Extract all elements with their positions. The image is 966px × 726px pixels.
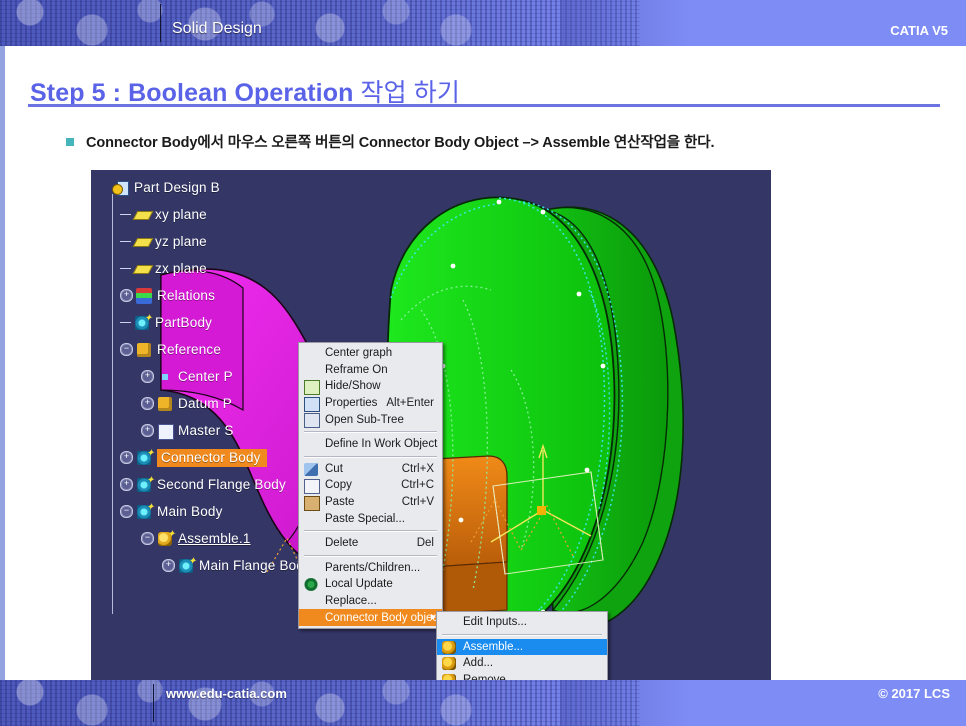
tree-item-zx-plane[interactable]: zx plane bbox=[99, 255, 359, 282]
copy-icon bbox=[304, 479, 320, 494]
collapse-icon[interactable]: − bbox=[141, 532, 154, 545]
menu-item-edit-inputs[interactable]: Edit Inputs... bbox=[437, 614, 607, 631]
menu-separator bbox=[304, 456, 437, 458]
reference-icon bbox=[136, 342, 153, 358]
tree-item-label: Center P bbox=[178, 369, 233, 384]
tree-item-relations[interactable]: +Relations bbox=[99, 282, 359, 309]
tree-item-label: Main Body bbox=[157, 504, 223, 519]
footer-copyright: © 2017 LCS bbox=[878, 686, 950, 701]
left-rail bbox=[0, 46, 5, 680]
menu-item-cut[interactable]: CutCtrl+X bbox=[299, 461, 442, 478]
menu-item-local-update[interactable]: Local Update bbox=[299, 576, 442, 593]
menu-item-label: Replace... bbox=[325, 595, 377, 607]
submenu-items: Edit Inputs...Assemble...Add...Remove...… bbox=[437, 614, 607, 680]
part-icon bbox=[113, 180, 130, 196]
tree-item-label: zx plane bbox=[155, 261, 207, 276]
menu-item-parents-children[interactable]: Parents/Children... bbox=[299, 560, 442, 577]
assemble-icon: ✦ bbox=[157, 531, 174, 547]
menu-item-shortcut: Del bbox=[417, 537, 434, 549]
body-icon: ✦ bbox=[134, 315, 151, 331]
body-icon: ✦ bbox=[178, 558, 195, 574]
expand-icon[interactable]: + bbox=[162, 559, 175, 572]
header-decoration bbox=[0, 0, 640, 46]
body-icon: ✦ bbox=[136, 504, 153, 520]
menu-item-define-in-work-object[interactable]: Define In Work Object bbox=[299, 436, 442, 453]
menu-item-label: Connector Body object bbox=[325, 612, 441, 624]
menu-item-properties[interactable]: PropertiesAlt+Enter bbox=[299, 395, 442, 412]
sketch-icon bbox=[157, 423, 174, 439]
tree-item-label: Part Design B bbox=[134, 180, 220, 195]
tree-item-label: yz plane bbox=[155, 234, 207, 249]
tree-item-label: Main Flange Body bbox=[199, 558, 311, 573]
tree-item-xy-plane[interactable]: xy plane bbox=[99, 201, 359, 228]
expand-icon[interactable]: + bbox=[141, 424, 154, 437]
local-update-icon bbox=[304, 578, 318, 591]
context-menu-items: Center graphReframe OnHide/ShowPropertie… bbox=[299, 345, 442, 626]
menu-item-label: Edit Inputs... bbox=[463, 616, 527, 628]
tree-item-part-design-b[interactable]: Part Design B bbox=[99, 174, 359, 201]
plane-icon bbox=[134, 234, 151, 250]
tree-branch-line bbox=[120, 268, 131, 269]
menu-item-label: Reframe On bbox=[325, 364, 388, 376]
plane-icon bbox=[134, 207, 151, 223]
bullet-text: Connector Body에서 마우스 오른쪽 버튼의 Connector B… bbox=[86, 131, 714, 152]
menu-item-shortcut: Alt+Enter bbox=[386, 397, 434, 409]
catia-viewport[interactable]: Part Design Bxy planeyz planezx plane+Re… bbox=[91, 170, 771, 680]
properties-icon bbox=[304, 397, 320, 412]
header-banner: Solid Design CATIA V5 bbox=[0, 0, 966, 46]
menu-item-remove[interactable]: Remove... bbox=[437, 672, 607, 680]
tree-item-partbody[interactable]: ✦PartBody bbox=[99, 309, 359, 336]
footer-decoration bbox=[0, 680, 640, 726]
menu-item-copy[interactable]: CopyCtrl+C bbox=[299, 477, 442, 494]
tree-item-label: xy plane bbox=[155, 207, 207, 222]
collapse-icon[interactable]: − bbox=[120, 505, 133, 518]
menu-item-label: Delete bbox=[325, 537, 358, 549]
tree-item-yz-plane[interactable]: yz plane bbox=[99, 228, 359, 255]
body-icon: ✦ bbox=[136, 477, 153, 493]
tree-branch-line bbox=[120, 241, 131, 242]
menu-item-label: Hide/Show bbox=[325, 380, 381, 392]
tree-branch-line bbox=[120, 214, 131, 215]
course-title: Solid Design bbox=[172, 20, 262, 38]
point-icon bbox=[157, 369, 174, 385]
collapse-icon[interactable]: − bbox=[120, 343, 133, 356]
menu-item-label: Assemble... bbox=[463, 641, 523, 653]
menu-item-label: Local Update bbox=[325, 578, 393, 590]
tree-item-label: Connector Body bbox=[157, 449, 267, 467]
paste-icon bbox=[304, 496, 320, 511]
slide: Solid Design CATIA V5 Step 5 : Boolean O… bbox=[0, 0, 966, 726]
menu-item-label: Properties bbox=[325, 397, 377, 409]
menu-item-label: Cut bbox=[325, 463, 343, 475]
footer-banner bbox=[0, 680, 966, 726]
body-icon: ✦ bbox=[136, 450, 153, 466]
expand-icon[interactable]: + bbox=[141, 397, 154, 410]
menu-item-connector-body-object[interactable]: Connector Body object bbox=[299, 609, 442, 626]
menu-item-label: Parents/Children... bbox=[325, 562, 420, 574]
add-icon bbox=[442, 657, 456, 670]
expand-icon[interactable]: + bbox=[120, 451, 133, 464]
cut-icon bbox=[304, 463, 318, 476]
menu-item-reframe-on[interactable]: Reframe On bbox=[299, 362, 442, 379]
menu-item-replace[interactable]: Replace... bbox=[299, 593, 442, 610]
header-decoration-fade bbox=[560, 0, 690, 46]
bullet-row: Connector Body에서 마우스 오른쪽 버튼의 Connector B… bbox=[66, 131, 714, 152]
context-menu[interactable]: Center graphReframe OnHide/ShowPropertie… bbox=[298, 342, 443, 629]
menu-item-shortcut: Ctrl+C bbox=[401, 479, 434, 491]
tree-item-label: Reference bbox=[157, 342, 221, 357]
page-title-en: Step 5 : Boolean Operation bbox=[30, 79, 361, 107]
title-underline bbox=[28, 104, 940, 107]
footer-url[interactable]: www.edu-catia.com bbox=[166, 686, 287, 701]
menu-separator bbox=[442, 634, 602, 636]
menu-separator bbox=[304, 555, 437, 557]
menu-item-center-graph[interactable]: Center graph bbox=[299, 345, 442, 362]
tree-item-label: Assemble.1 bbox=[178, 531, 251, 546]
reference-icon bbox=[157, 396, 174, 412]
tree-item-label: Datum P bbox=[178, 396, 232, 411]
tree-item-label: Master S bbox=[178, 423, 234, 438]
header-divider bbox=[160, 4, 161, 42]
tree-item-label: Relations bbox=[157, 288, 215, 303]
brand-label: CATIA V5 bbox=[890, 23, 948, 38]
tree-item-label: Second Flange Body bbox=[157, 477, 286, 492]
relations-icon bbox=[136, 288, 153, 304]
tree-item-label: PartBody bbox=[155, 315, 212, 330]
menu-separator bbox=[304, 530, 437, 532]
expand-icon[interactable]: + bbox=[120, 478, 133, 491]
menu-item-shortcut: Ctrl+V bbox=[402, 496, 434, 508]
menu-item-shortcut: Ctrl+X bbox=[402, 463, 434, 475]
menu-item-paste[interactable]: PasteCtrl+V bbox=[299, 494, 442, 511]
expand-icon[interactable]: + bbox=[141, 370, 154, 383]
assemble-icon bbox=[442, 641, 456, 654]
menu-item-assemble[interactable]: Assemble... bbox=[437, 639, 607, 656]
menu-separator bbox=[304, 431, 437, 433]
hide-show-icon bbox=[304, 380, 320, 395]
menu-item-label: Add... bbox=[463, 657, 493, 669]
plane-icon bbox=[134, 261, 151, 277]
menu-item-label: Paste Special... bbox=[325, 513, 405, 525]
footer-decoration-fade bbox=[560, 680, 690, 726]
menu-item-delete[interactable]: DeleteDel bbox=[299, 535, 442, 552]
sub-tree-icon bbox=[304, 413, 320, 428]
menu-item-label: Center graph bbox=[325, 347, 392, 359]
menu-item-label: Paste bbox=[325, 496, 354, 508]
boolean-operations-submenu[interactable]: Edit Inputs...Assemble...Add...Remove...… bbox=[436, 611, 608, 680]
menu-item-label: Open Sub-Tree bbox=[325, 414, 404, 426]
bullet-square-icon bbox=[66, 138, 74, 146]
menu-item-add[interactable]: Add... bbox=[437, 655, 607, 672]
menu-item-paste-special[interactable]: Paste Special... bbox=[299, 510, 442, 527]
menu-item-label: Copy bbox=[325, 479, 352, 491]
expand-icon[interactable]: + bbox=[120, 289, 133, 302]
tree-branch-line bbox=[120, 322, 131, 323]
footer-divider bbox=[153, 684, 154, 722]
menu-item-hide-show[interactable]: Hide/Show bbox=[299, 378, 442, 395]
menu-item-label: Define In Work Object bbox=[325, 438, 437, 450]
menu-item-open-sub-tree[interactable]: Open Sub-Tree bbox=[299, 411, 442, 428]
page-title-kr: 작업 하기 bbox=[361, 79, 460, 107]
